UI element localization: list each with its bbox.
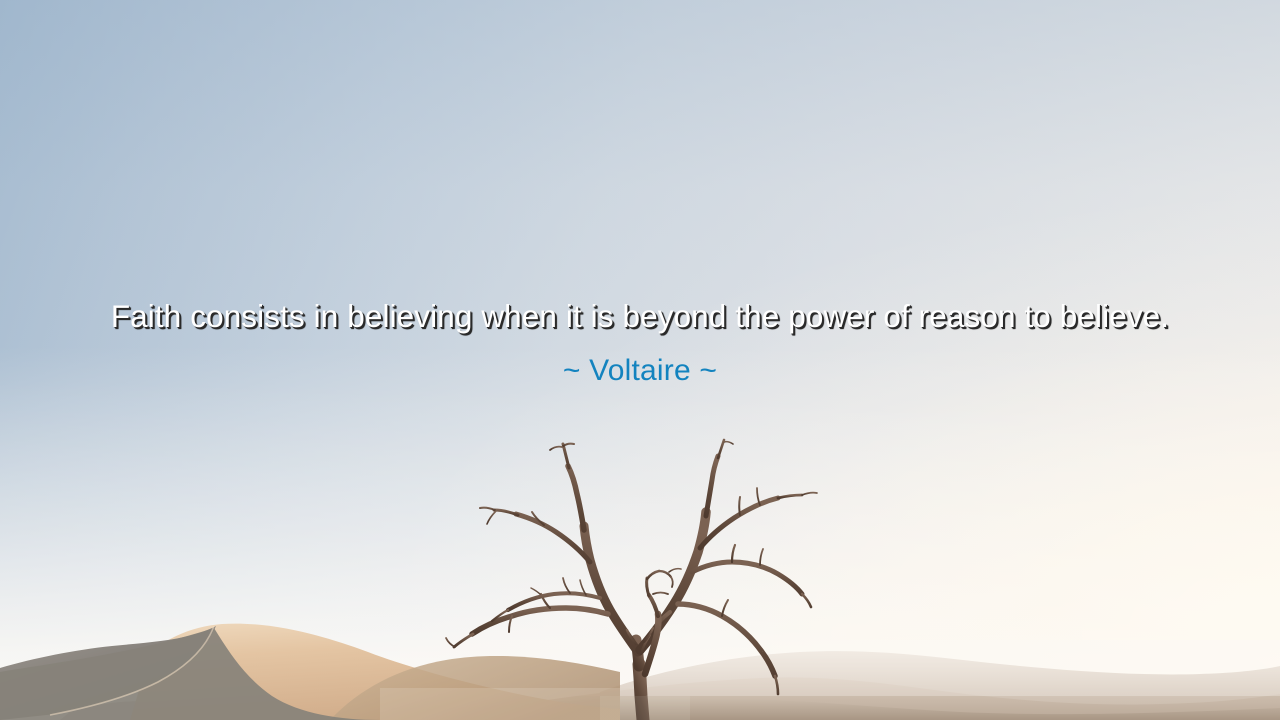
quote-wallpaper: Faith consists in believing when it is b…	[0, 0, 1280, 720]
attribution-text: ~ Voltaire ~	[0, 352, 1280, 390]
quote-block: Faith consists in believing when it is b…	[0, 294, 1280, 390]
dead-acacia-tree	[440, 438, 840, 720]
quote-text: Faith consists in believing when it is b…	[110, 294, 1170, 338]
